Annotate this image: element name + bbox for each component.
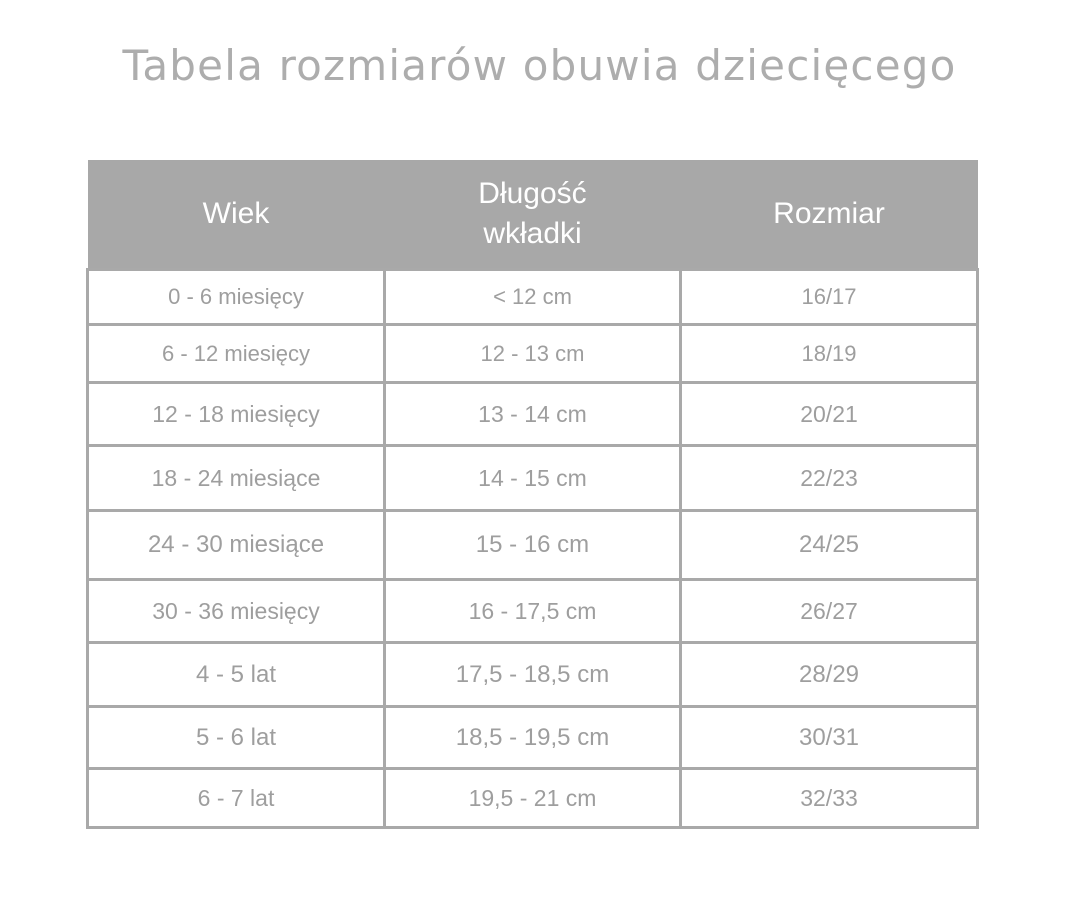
table-row: 24 - 30 miesiące 15 - 16 cm 24/25 xyxy=(88,511,978,580)
column-header-insole-length-line-2: wkładki xyxy=(393,214,673,254)
cell-age: 4 - 5 lat xyxy=(88,643,385,707)
column-header-insole-length-line-1: Długość xyxy=(393,174,673,214)
cell-age: 5 - 6 lat xyxy=(88,707,385,769)
column-header-size-line-1: Rozmiar xyxy=(689,194,970,234)
cell-size: 16/17 xyxy=(681,270,978,325)
cell-size: 26/27 xyxy=(681,580,978,643)
cell-size: 18/19 xyxy=(681,325,978,383)
column-header-age-line-1: Wiek xyxy=(96,194,377,234)
table-row: 6 - 12 miesięcy 12 - 13 cm 18/19 xyxy=(88,325,978,383)
column-header-size: Rozmiar xyxy=(681,160,978,270)
table-row: 5 - 6 lat 18,5 - 19,5 cm 30/31 xyxy=(88,707,978,769)
table-row: 4 - 5 lat 17,5 - 18,5 cm 28/29 xyxy=(88,643,978,707)
table-row: 18 - 24 miesiące 14 - 15 cm 22/23 xyxy=(88,446,978,511)
cell-length: 15 - 16 cm xyxy=(385,511,681,580)
cell-size: 32/33 xyxy=(681,769,978,828)
cell-length: 14 - 15 cm xyxy=(385,446,681,511)
cell-size: 28/29 xyxy=(681,643,978,707)
table-header: Wiek Długość wkładki Rozmiar xyxy=(88,160,978,270)
table-row: 30 - 36 miesięcy 16 - 17,5 cm 26/27 xyxy=(88,580,978,643)
size-table-container: Wiek Długość wkładki Rozmiar 0 - 6 miesi… xyxy=(86,160,976,829)
column-header-age: Wiek xyxy=(88,160,385,270)
table-body: 0 - 6 miesięcy < 12 cm 16/17 6 - 12 mies… xyxy=(88,270,978,828)
page-title: Tabela rozmiarów obuwia dziecięcego xyxy=(0,42,1079,90)
cell-age: 6 - 7 lat xyxy=(88,769,385,828)
cell-age: 18 - 24 miesiące xyxy=(88,446,385,511)
cell-age: 6 - 12 miesięcy xyxy=(88,325,385,383)
cell-size: 22/23 xyxy=(681,446,978,511)
cell-length: 17,5 - 18,5 cm xyxy=(385,643,681,707)
cell-size: 20/21 xyxy=(681,383,978,446)
cell-length: 19,5 - 21 cm xyxy=(385,769,681,828)
table-row: 12 - 18 miesięcy 13 - 14 cm 20/21 xyxy=(88,383,978,446)
table-row: 0 - 6 miesięcy < 12 cm 16/17 xyxy=(88,270,978,325)
cell-length: 16 - 17,5 cm xyxy=(385,580,681,643)
column-header-insole-length: Długość wkładki xyxy=(385,160,681,270)
cell-size: 30/31 xyxy=(681,707,978,769)
cell-length: 12 - 13 cm xyxy=(385,325,681,383)
cell-length: 13 - 14 cm xyxy=(385,383,681,446)
table-header-row: Wiek Długość wkładki Rozmiar xyxy=(88,160,978,270)
cell-age: 24 - 30 miesiące xyxy=(88,511,385,580)
cell-size: 24/25 xyxy=(681,511,978,580)
shoe-size-table: Wiek Długość wkładki Rozmiar 0 - 6 miesi… xyxy=(86,160,979,829)
cell-length: < 12 cm xyxy=(385,270,681,325)
table-row: 6 - 7 lat 19,5 - 21 cm 32/33 xyxy=(88,769,978,828)
cell-age: 12 - 18 miesięcy xyxy=(88,383,385,446)
cell-age: 30 - 36 miesięcy xyxy=(88,580,385,643)
cell-age: 0 - 6 miesięcy xyxy=(88,270,385,325)
cell-length: 18,5 - 19,5 cm xyxy=(385,707,681,769)
